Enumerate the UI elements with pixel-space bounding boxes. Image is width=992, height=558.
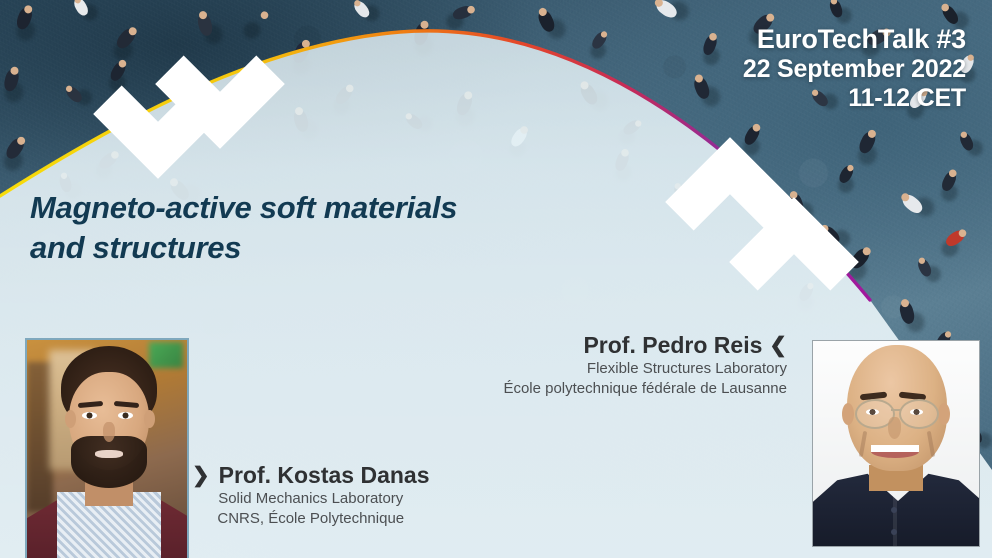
- portrait-ear-left: [842, 403, 854, 425]
- event-date: 22 September 2022: [743, 55, 966, 84]
- speaker-kostas-danas-affiliation: CNRS, École Polytechnique: [192, 509, 430, 529]
- event-poster: EuroTechTalk #3 22 September 2022 11-12 …: [0, 0, 992, 558]
- speaker-pedro-reis-lab: Flexible Structures Laboratory: [503, 359, 787, 379]
- speaker-pedro-reis: Prof. Pedro Reis ❮ Flexible Structures L…: [503, 332, 787, 399]
- speaker-pedro-reis-name-row: Prof. Pedro Reis ❮: [503, 332, 787, 359]
- portrait-mouth: [95, 450, 123, 458]
- speaker-kostas-danas-name-row: ❯ Prof. Kostas Danas: [192, 462, 430, 489]
- portrait-glasses-bridge: [891, 409, 901, 411]
- talk-title-line-1: Magneto-active soft materials: [30, 188, 457, 228]
- portrait-nose: [103, 422, 115, 442]
- portrait-ear-right: [938, 403, 950, 425]
- event-series-title: EuroTechTalk #3: [743, 24, 966, 55]
- portrait-eye-left: [82, 412, 97, 419]
- speaker-kostas-danas-name: Prof. Kostas Danas: [219, 462, 430, 489]
- portrait-glasses-right-lens: [899, 399, 939, 429]
- event-header: EuroTechTalk #3 22 September 2022 11-12 …: [743, 24, 966, 113]
- speaker-pedro-reis-name: Prof. Pedro Reis: [583, 332, 762, 359]
- speaker-kostas-danas: ❯ Prof. Kostas Danas Solid Mechanics Lab…: [192, 462, 430, 529]
- portrait-shirt-placket: [893, 491, 897, 547]
- speaker-pedro-reis-affiliation: École polytechnique fédérale de Lausanne: [503, 379, 787, 399]
- chevron-right-icon: ❯: [192, 463, 210, 488]
- portrait-pedro-reis: [812, 340, 980, 547]
- portrait-bg-green: [149, 342, 183, 368]
- talk-title-line-2: and structures: [30, 228, 457, 268]
- talk-title: Magneto-active soft materials and struct…: [30, 188, 457, 269]
- portrait-mouth-smiling: [871, 445, 919, 458]
- portrait-ear-left: [65, 410, 76, 428]
- portrait-beard: [71, 436, 147, 488]
- portrait-ear-right: [144, 410, 155, 428]
- speaker-kostas-danas-lab: Solid Mechanics Laboratory: [192, 489, 430, 509]
- portrait-kostas-danas: [25, 338, 189, 558]
- portrait-eye-right: [118, 412, 133, 419]
- chevron-left-icon: ❮: [769, 333, 787, 358]
- portrait-shirt-button-1: [891, 507, 897, 513]
- portrait-shirt-button-2: [891, 529, 897, 535]
- portrait-nose: [888, 417, 901, 439]
- event-time: 11-12 CET: [743, 84, 966, 113]
